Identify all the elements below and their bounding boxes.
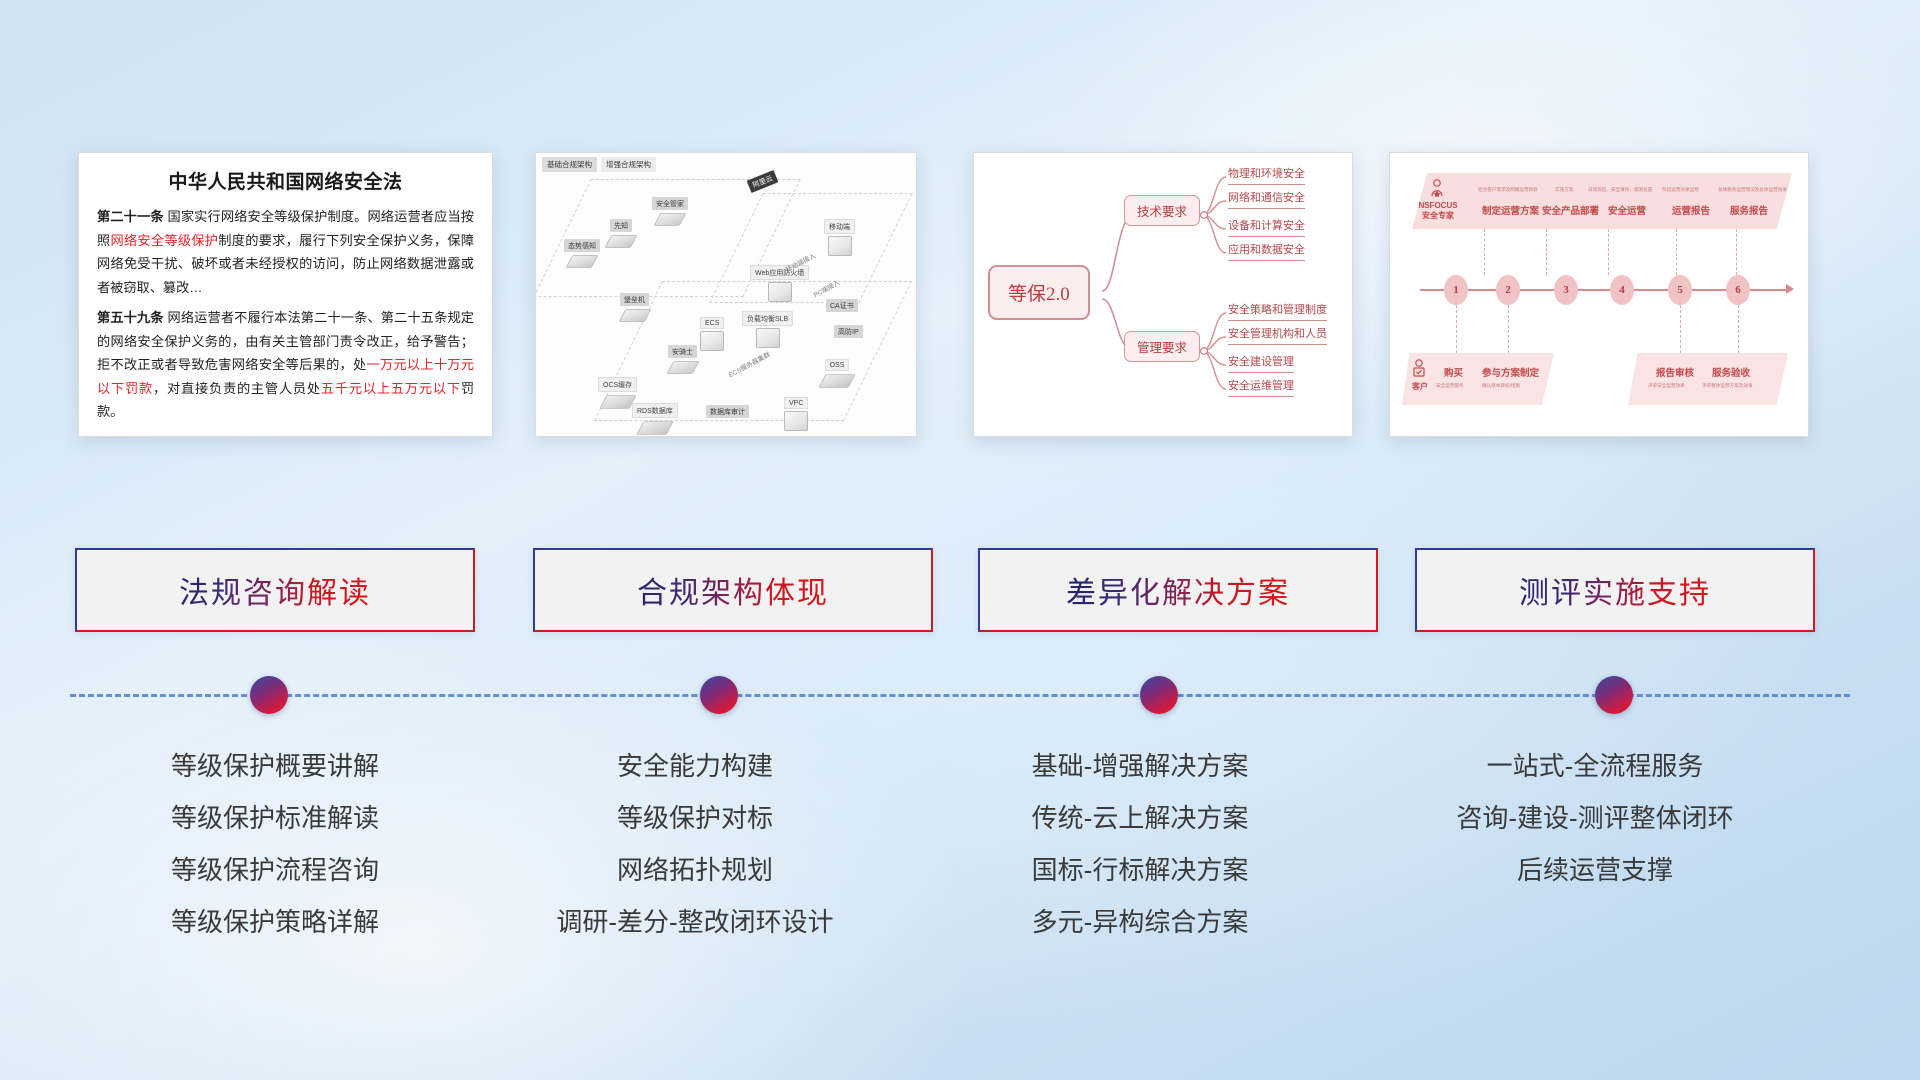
banner-regulation-consulting[interactable]: 法规咨询解读 [75,548,475,632]
banner-differentiated-solution[interactable]: 差异化解决方案 [978,548,1378,632]
timeline-dashed-line [70,694,1850,697]
feature-item: 网络拓扑规划 [480,844,910,896]
timeline-marker-2[interactable] [700,676,738,714]
feature-item: 等级保护流程咨询 [60,844,490,896]
banner-label: 差异化解决方案 [1066,568,1290,612]
feature-item: 后续运营支撑 [1380,844,1810,896]
feature-item: 等级保护标准解读 [60,792,490,844]
feature-item: 等级保护对标 [480,792,910,844]
feature-item: 传统-云上解决方案 [925,792,1355,844]
banner-compliance-architecture[interactable]: 合规架构体现 [533,548,933,632]
feature-column-3: 基础-增强解决方案 传统-云上解决方案 国标-行标解决方案 多元-异构综合方案 [925,740,1355,948]
feature-column-1: 等级保护概要讲解 等级保护标准解读 等级保护流程咨询 等级保护策略详解 [60,740,490,948]
feature-item: 调研-差分-整改闭环设计 [480,896,910,948]
feature-item: 基础-增强解决方案 [925,740,1355,792]
feature-column-4: 一站式-全流程服务 咨询-建设-测评整体闭环 后续运营支撑 [1380,740,1810,896]
feature-item: 安全能力构建 [480,740,910,792]
feature-item: 等级保护策略详解 [60,896,490,948]
timeline-marker-1[interactable] [250,676,288,714]
banner-label: 合规架构体现 [637,568,829,612]
feature-item: 多元-异构综合方案 [925,896,1355,948]
banner-evaluation-support[interactable]: 测评实施支持 [1415,548,1815,632]
feature-item: 等级保护概要讲解 [60,740,490,792]
banner-row: 法规咨询解读 合规架构体现 差异化解决方案 测评实施支持 等级保护概要讲解 等级… [0,0,1920,1080]
feature-item: 国标-行标解决方案 [925,844,1355,896]
feature-item: 一站式-全流程服务 [1380,740,1810,792]
feature-column-2: 安全能力构建 等级保护对标 网络拓扑规划 调研-差分-整改闭环设计 [480,740,910,948]
timeline-marker-4[interactable] [1595,676,1633,714]
feature-item: 咨询-建设-测评整体闭环 [1380,792,1810,844]
timeline-marker-3[interactable] [1140,676,1178,714]
banner-label: 法规咨询解读 [179,568,371,612]
banner-label: 测评实施支持 [1519,568,1711,612]
